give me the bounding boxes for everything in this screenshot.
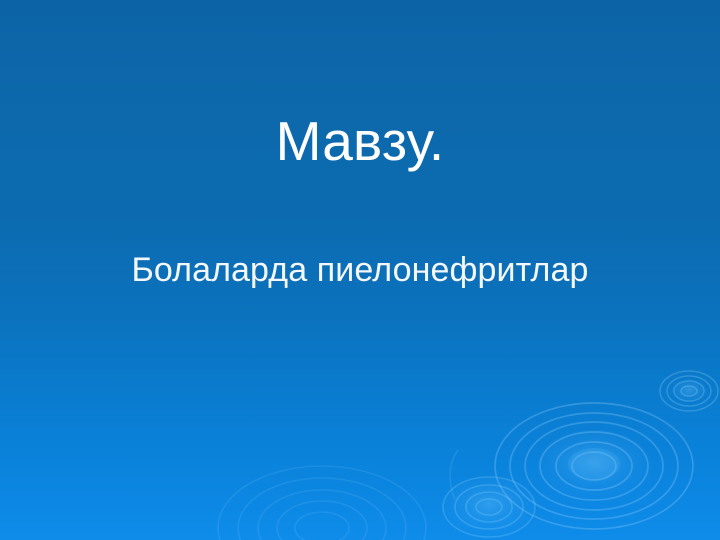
slide-subtitle: Болаларда пиелонефритлар [40, 250, 680, 290]
subtitle-placeholder[interactable]: Болаларда пиелонефритлар [0, 250, 720, 290]
ripple-small-topright [660, 371, 718, 411]
title-placeholder[interactable]: Мавзу. [0, 112, 720, 171]
ripple-large-right [495, 403, 693, 529]
presentation-slide: Мавзу. Болаларда пиелонефритлар [0, 0, 720, 540]
ripple-medium-center [443, 450, 535, 537]
slide-title: Мавзу. [0, 112, 720, 171]
ripple-faint-left [218, 466, 426, 540]
